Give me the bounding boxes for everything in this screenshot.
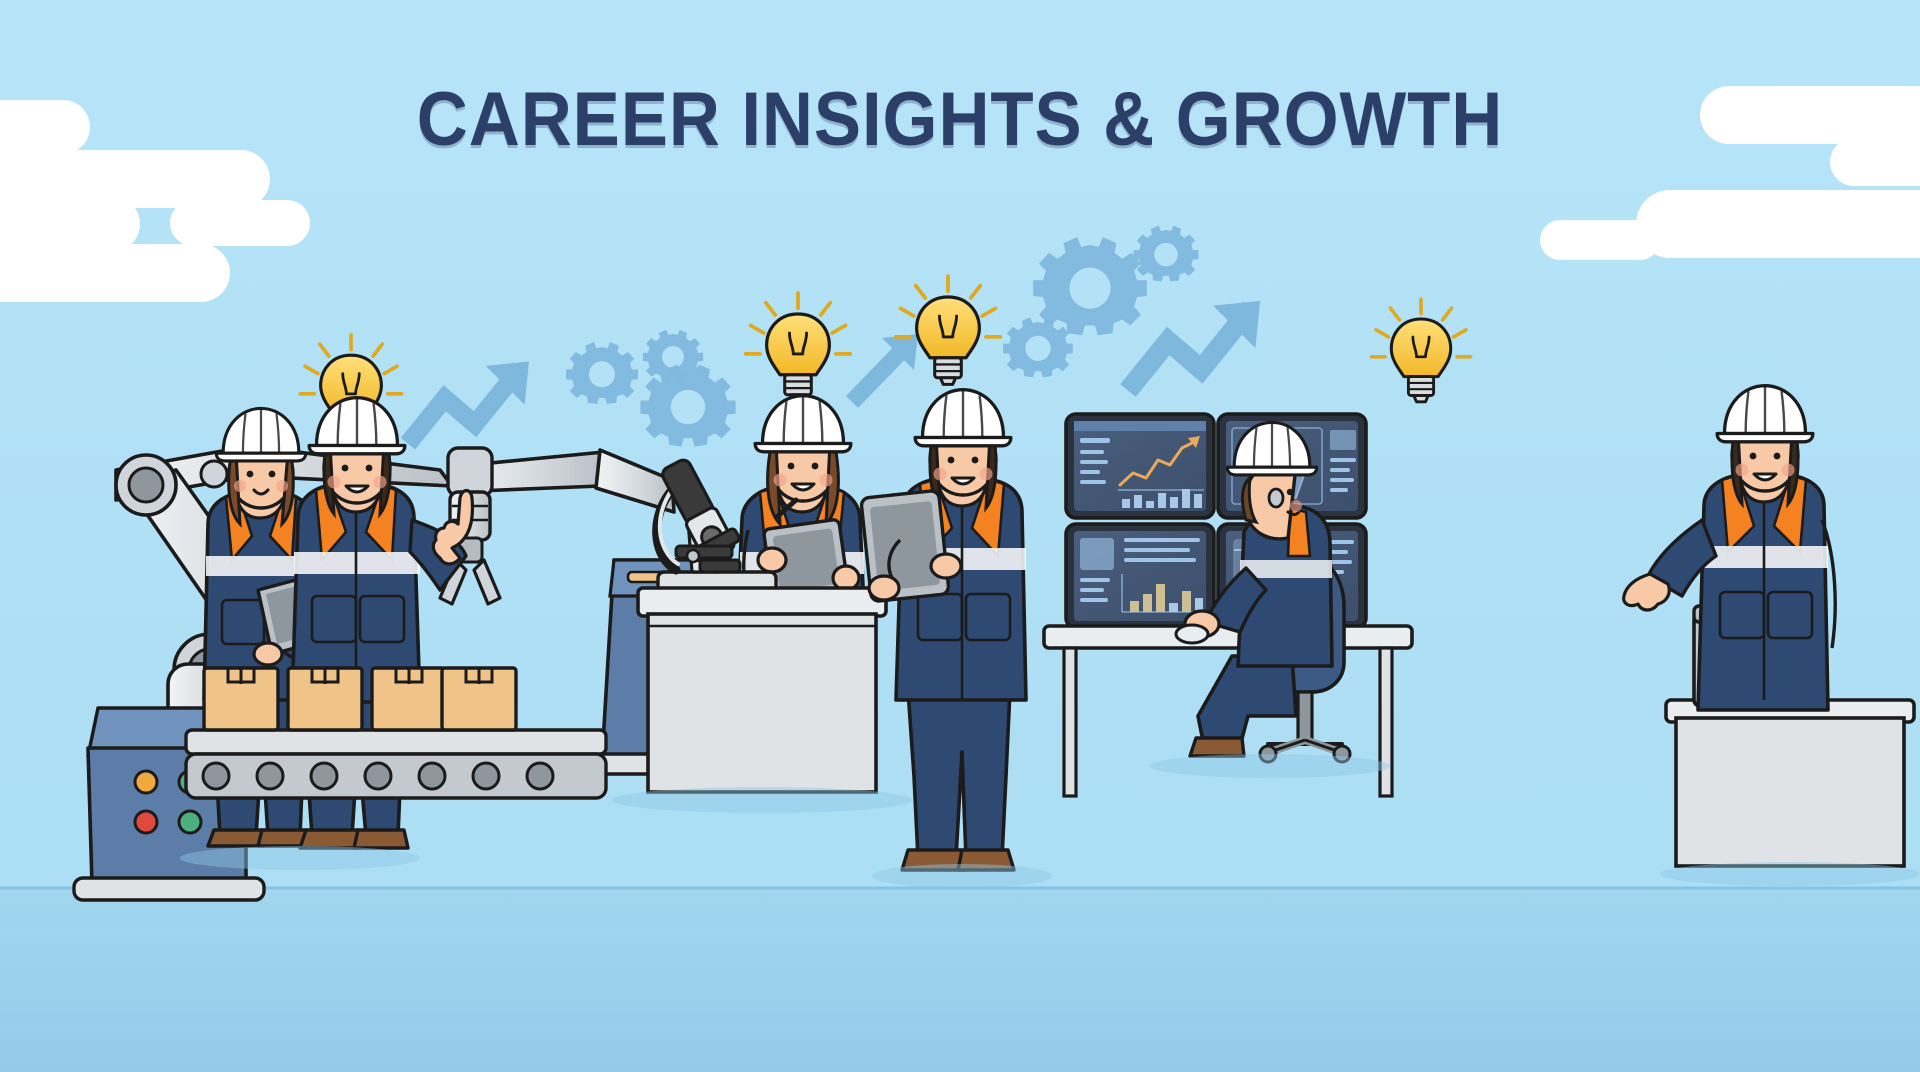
cardboard-box — [204, 668, 278, 730]
background-floor — [0, 888, 1920, 1072]
cardboard-box — [288, 668, 362, 730]
ear — [1269, 489, 1283, 507]
screen-analytics — [1066, 414, 1214, 518]
led-red-icon — [135, 811, 157, 833]
page-title: CAREER INSIGHTS & GROWTH — [67, 76, 1853, 163]
illustration-canvas: CAREER INSIGHTS & GROWTH — [0, 0, 1920, 1072]
led-orange-icon — [135, 771, 157, 793]
led-green-icon — [179, 811, 201, 833]
cardboard-box — [442, 668, 516, 730]
lab-bench — [638, 588, 886, 792]
computer-mouse — [1176, 625, 1208, 643]
cardboard-box — [372, 668, 446, 730]
